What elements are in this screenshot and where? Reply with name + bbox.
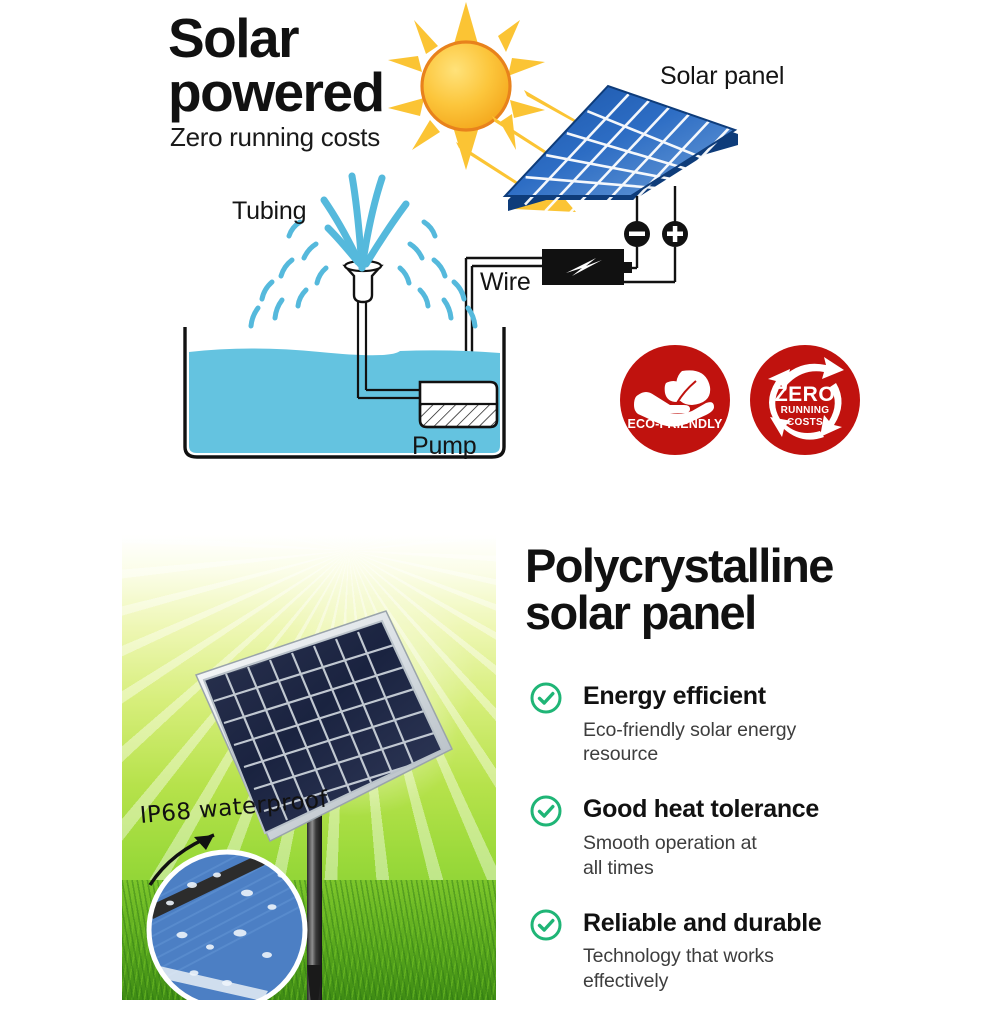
zero-line-1: ZERO (750, 383, 860, 407)
inverter-icon (542, 249, 632, 285)
panel-terminals (623, 186, 688, 282)
zero-running-costs-badge: ZERO RUNNING COSTS (750, 345, 860, 455)
label-pump: Pump (412, 432, 477, 461)
product-photo: IP68 waterproof (122, 535, 496, 1000)
hand-leaf-icon (620, 345, 730, 455)
feature-list: Energy efficient Eco-friendly solar ener… (525, 683, 945, 1023)
solar-powered-section: Solar powered Zero running costs (0, 0, 1000, 500)
section-title-line-2: solar panel (525, 589, 945, 636)
check-circle-icon (529, 681, 563, 715)
feature-desc-line-2: resource (583, 742, 945, 767)
polycrystalline-section: IP68 waterproof Polycrystalline solar pa… (0, 500, 1000, 1000)
feature-desc-line-2: effectively (583, 969, 945, 994)
feature-item: Good heat tolerance Smooth operation at … (525, 796, 945, 880)
feature-title: Energy efficient (583, 683, 945, 711)
label-wire: Wire (480, 268, 531, 297)
section-title: Polycrystalline solar panel (525, 542, 945, 636)
feature-desc: Technology that works effectively (583, 944, 945, 994)
sun-icon (388, 2, 545, 170)
infographic-page: Solar powered Zero running costs (0, 0, 1000, 1000)
check-circle-icon (529, 794, 563, 828)
label-solar-panel: Solar panel (660, 62, 784, 91)
feature-title: Good heat tolerance (583, 796, 945, 824)
feature-item: Energy efficient Eco-friendly solar ener… (525, 683, 945, 767)
fountain-spray (324, 176, 406, 268)
feature-desc-line-2: all times (583, 856, 945, 881)
feature-desc-line-1: Smooth operation at (583, 831, 945, 856)
eco-friendly-label: ECO-FRIENDLY (620, 417, 730, 431)
feature-desc-line-1: Technology that works (583, 944, 945, 969)
feature-desc: Eco-friendly solar energy resource (583, 718, 945, 768)
feature-title: Reliable and durable (583, 910, 945, 938)
panel-photo-graphic (122, 535, 496, 1000)
feature-item: Reliable and durable Technology that wor… (525, 910, 945, 994)
feature-desc-line-1: Eco-friendly solar energy (583, 718, 945, 743)
eco-friendly-badge: ECO-FRIENDLY (620, 345, 730, 455)
pump-graphic (420, 382, 497, 427)
label-tubing: Tubing (232, 197, 306, 226)
check-circle-icon (529, 908, 563, 942)
feature-heading: Polycrystalline solar panel (525, 542, 945, 636)
feature-desc: Smooth operation at all times (583, 831, 945, 881)
zero-line-2: RUNNING (750, 405, 860, 416)
section-title-line-1: Polycrystalline (525, 539, 833, 592)
badge-group: ECO-FRIENDLY ZERO RUNNING COSTS (620, 345, 875, 460)
zero-line-3: COSTS (750, 417, 860, 428)
